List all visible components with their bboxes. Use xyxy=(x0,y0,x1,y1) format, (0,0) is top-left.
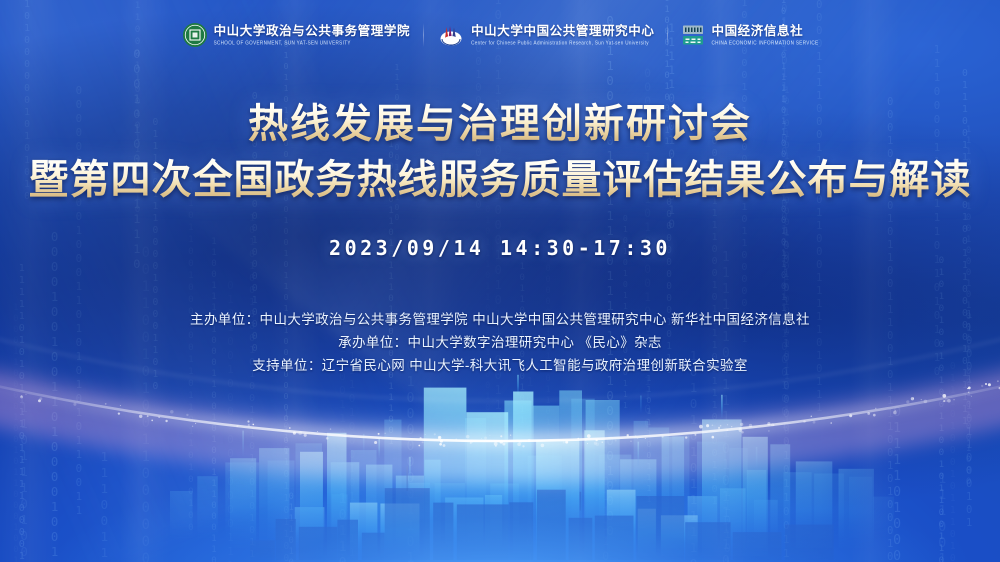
poster-title: 热线发展与治理创新研讨会 暨第四次全国政务热线服务质量评估结果公布与解读 xyxy=(0,98,1000,206)
logo-label-cn: 中山大学中国公共管理研究中心 xyxy=(471,24,654,38)
logo-china-economic-information-service[interactable]: 中国经济信息社 CHINA ECONOMIC INFORMATION SERVI… xyxy=(668,23,831,47)
logo-sysu-school-of-government[interactable]: 中山大学政治与公共事务管理学院 SCHOOL OF GOVERNMENT, SU… xyxy=(169,22,424,48)
logo-label-en: Center for Chinese Public Administration… xyxy=(471,40,654,47)
logo-bar: 中山大学政治与公共事务管理学院 SCHOOL OF GOVERNMENT, SU… xyxy=(0,22,1000,48)
organizer-line-support: 支持单位：辽宁省民心网 中山大学-科大讯飞人工智能与政府治理创新联合实验室 xyxy=(0,354,1000,377)
ceis-mark-icon xyxy=(681,23,705,47)
title-line-2: 暨第四次全国政务热线服务质量评估结果公布与解读 xyxy=(0,154,1000,206)
logo-ccpar-sysu[interactable]: 中山大学中国公共管理研究中心 Center for Chinese Public… xyxy=(424,22,667,48)
ccpar-emblem-icon xyxy=(437,22,465,48)
organizer-list: 主办单位：中山大学政治与公共事务管理学院 中山大学中国公共管理研究中心 新华社中… xyxy=(0,308,1000,377)
sysu-seal-icon xyxy=(182,22,208,48)
logo-label-cn: 中国经济信息社 xyxy=(711,24,818,38)
event-datetime: 2023/09/14 14:30-17:30 xyxy=(0,236,1000,260)
logo-label-cn: 中山大学政治与公共事务管理学院 xyxy=(214,24,411,38)
organizer-line-host: 主办单位：中山大学政治与公共事务管理学院 中山大学中国公共管理研究中心 新华社中… xyxy=(0,308,1000,331)
title-line-1: 热线发展与治理创新研讨会 xyxy=(0,98,1000,150)
logo-label-en: CHINA ECONOMIC INFORMATION SERVICE xyxy=(711,40,818,47)
organizer-line-undertake: 承办单位：中山大学数字治理研究中心 《民心》杂志 xyxy=(0,331,1000,354)
logo-label-en: SCHOOL OF GOVERNMENT, SUN YAT-SEN UNIVER… xyxy=(214,40,411,47)
conference-poster: 0001010000111101100111010001100101001110… xyxy=(0,0,1000,562)
